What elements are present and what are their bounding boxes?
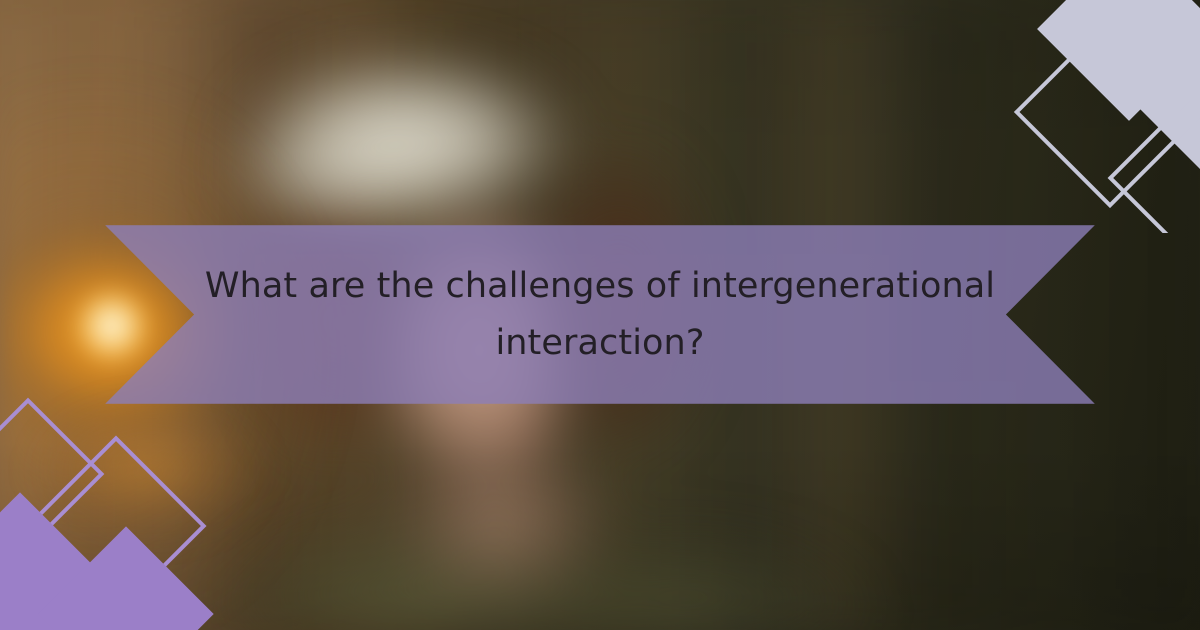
banner-title-line-2: interaction? (495, 315, 704, 372)
banner-title-line-1: What are the challenges of intergenerati… (205, 258, 995, 315)
banner-title: What are the challenges of intergenerati… (105, 225, 1095, 404)
question-banner: What are the challenges of intergenerati… (105, 225, 1095, 404)
social-card: What are the challenges of intergenerati… (0, 0, 1200, 630)
